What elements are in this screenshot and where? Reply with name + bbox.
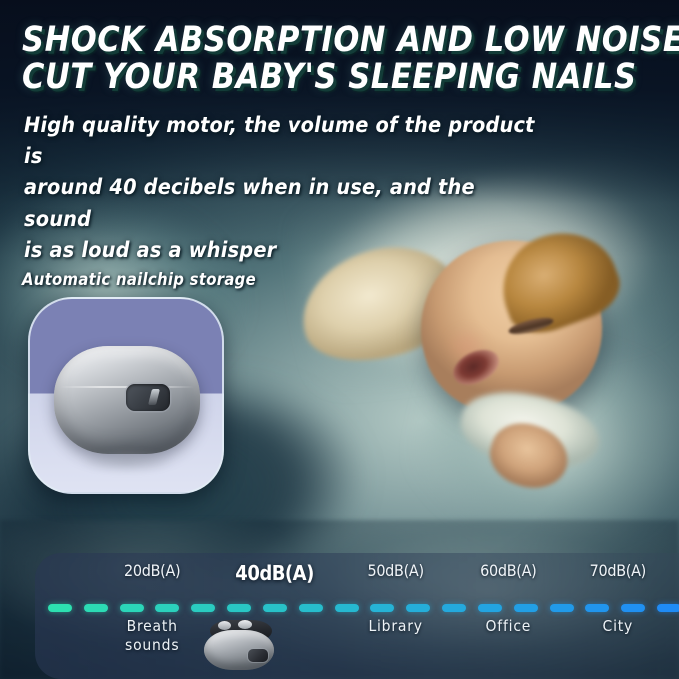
decibel-source-label-city: City bbox=[603, 617, 634, 636]
headline: SHOCK ABSORPTION AND LOW NOISE CUT YOUR … bbox=[22, 22, 646, 97]
nailchip-storage-caption: Automatic nailchip storage bbox=[22, 270, 256, 289]
subcopy: High quality motor, the volume of the pr… bbox=[24, 110, 539, 266]
scale-dash bbox=[84, 604, 108, 612]
scale-dash bbox=[227, 604, 251, 612]
trimmer-window bbox=[248, 649, 268, 662]
decibel-tick-60: 60dB(A) bbox=[480, 561, 536, 580]
decibel-source-label-library: Library bbox=[368, 617, 422, 636]
scale-dash bbox=[585, 604, 609, 612]
scale-dash bbox=[191, 604, 215, 612]
trimmer-blade-left bbox=[218, 621, 231, 630]
decibel-gradient-dashbar bbox=[35, 602, 679, 614]
decibel-tick-20: 20dB(A) bbox=[124, 561, 180, 580]
scale-dash bbox=[621, 604, 645, 612]
decibel-tick-70: 70dB(A) bbox=[590, 561, 646, 580]
scale-dash bbox=[550, 604, 574, 612]
scale-dash bbox=[263, 604, 287, 612]
scale-dash bbox=[478, 604, 502, 612]
case-reflection bbox=[68, 451, 186, 477]
headline-line-1: SHOCK ABSORPTION AND LOW NOISE bbox=[22, 22, 646, 59]
decibel-label-row: Breath soundsLibraryOfficeCity bbox=[35, 617, 679, 675]
scale-dash bbox=[657, 604, 679, 612]
trimmer-blade-right bbox=[238, 620, 252, 629]
subcopy-line-1: High quality motor, the volume of the pr… bbox=[24, 110, 539, 172]
nailchip-storage-card bbox=[28, 297, 224, 494]
decibel-value-row: 20dB(A)40dB(A)50dB(A)60dB(A)70dB(A) bbox=[35, 561, 679, 595]
decibel-tick-40: 40dB(A) bbox=[235, 561, 314, 585]
baby-nail-trimmer-marker-icon bbox=[200, 620, 278, 672]
scale-dash bbox=[442, 604, 466, 612]
subcopy-line-3: is as loud as a whisper bbox=[24, 235, 539, 266]
case-viewing-window bbox=[126, 384, 170, 411]
scale-dash bbox=[120, 604, 144, 612]
scale-dash bbox=[406, 604, 430, 612]
nail-trimmer-case-image bbox=[54, 346, 200, 454]
scale-dash bbox=[514, 604, 538, 612]
decibel-scale-panel: 20dB(A)40dB(A)50dB(A)60dB(A)70dB(A) Brea… bbox=[35, 553, 679, 679]
headline-line-2: CUT YOUR BABY'S SLEEPING NAILS bbox=[22, 59, 646, 96]
decibel-source-label-office: Office bbox=[485, 617, 531, 636]
decibel-source-label-breath-sounds: Breath sounds bbox=[125, 617, 179, 656]
trimmer-body bbox=[204, 630, 274, 670]
scale-dash bbox=[48, 604, 72, 612]
scale-dash bbox=[299, 604, 323, 612]
subcopy-line-2: around 40 decibels when in use, and the … bbox=[24, 172, 539, 234]
scale-dash bbox=[370, 604, 394, 612]
decibel-tick-50: 50dB(A) bbox=[367, 561, 423, 580]
product-poster: SHOCK ABSORPTION AND LOW NOISE CUT YOUR … bbox=[0, 0, 679, 679]
scale-dash bbox=[335, 604, 359, 612]
scale-dash bbox=[155, 604, 179, 612]
